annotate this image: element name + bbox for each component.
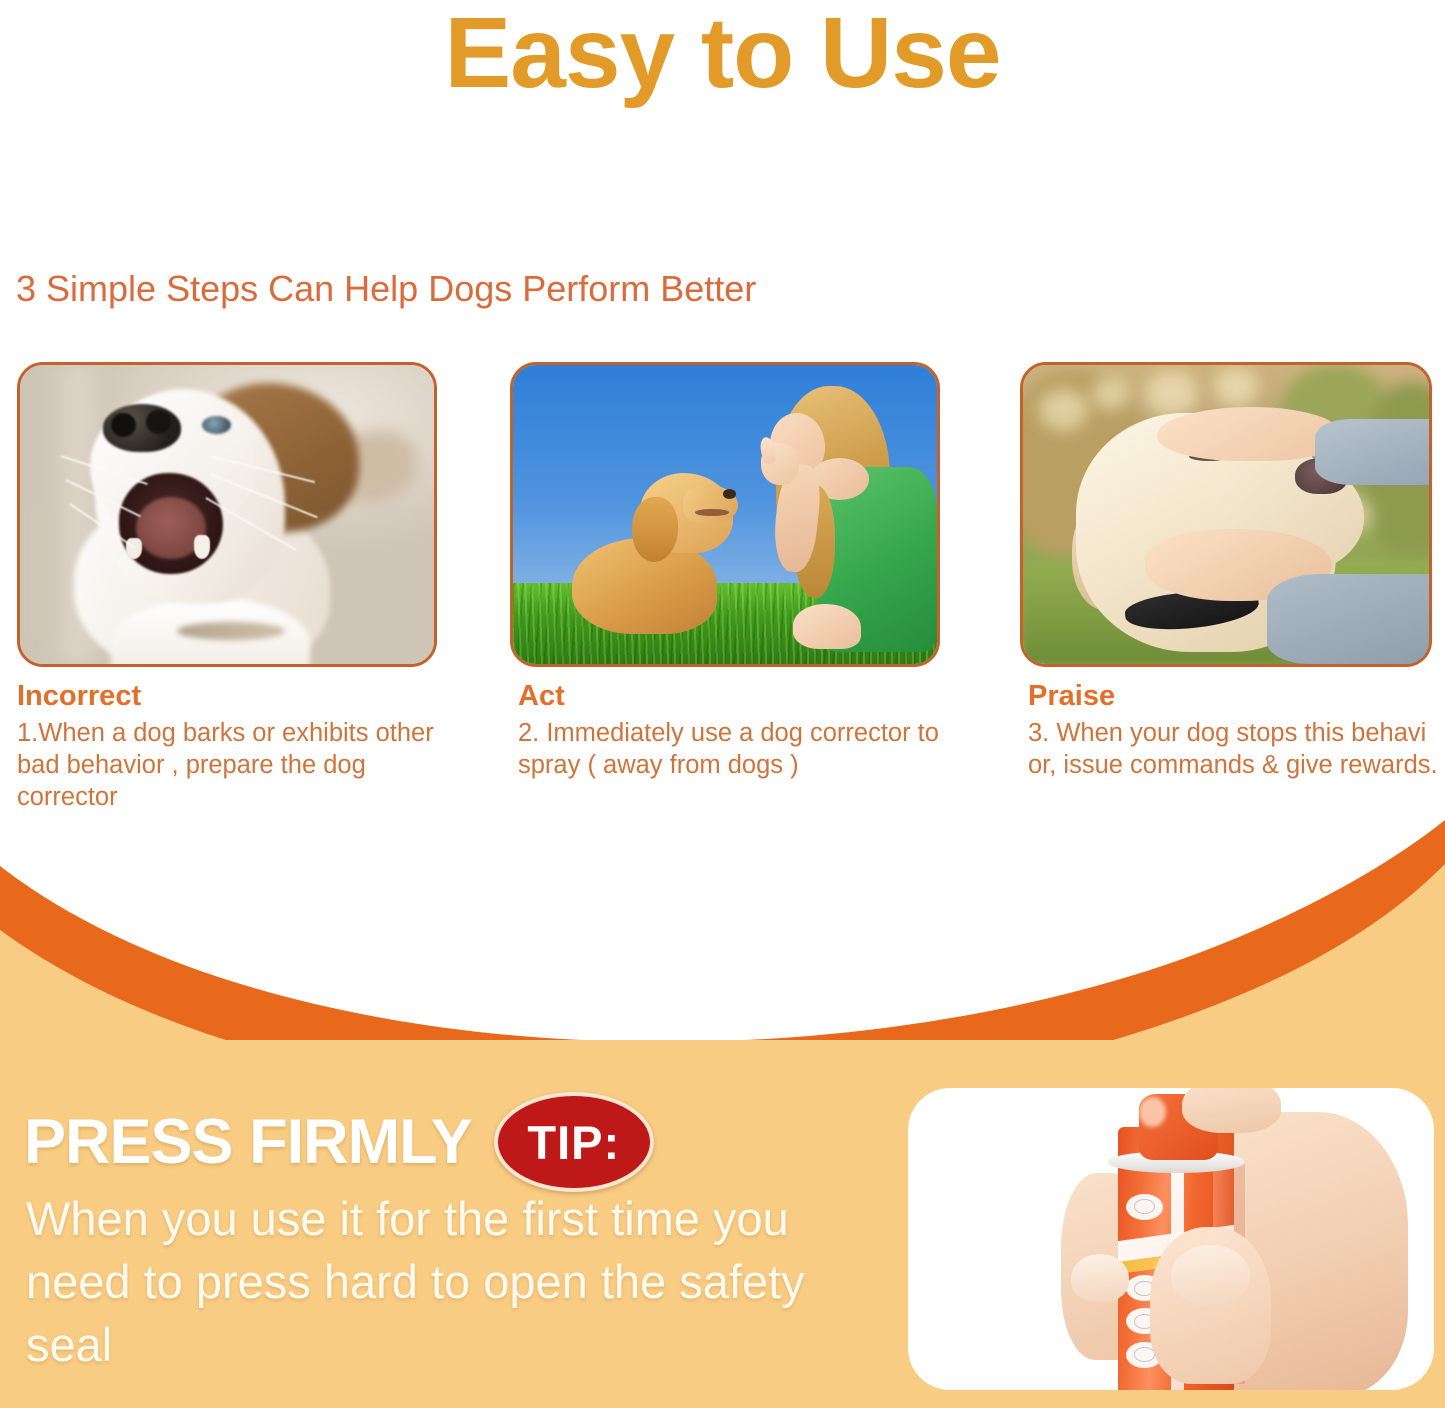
step-photo-praise	[1020, 362, 1432, 667]
paw-badge-icon	[1126, 1194, 1163, 1220]
spray-can-photo	[908, 1088, 1434, 1390]
step-photo-act	[510, 362, 940, 667]
step-body: 1.When a dog barks or exhibits other bad…	[17, 717, 437, 813]
step-body: 2. Immediately use a dog corrector to sp…	[518, 717, 963, 781]
step-heading: Act	[518, 681, 940, 713]
tip-body-text: When you use it for the first time you n…	[26, 1188, 846, 1377]
page-subtitle: 3 Simple Steps Can Help Dogs Perform Bet…	[16, 268, 756, 310]
press-firmly-row: PRESS FIRMLY TIP:	[24, 1092, 654, 1192]
step-card-praise: Praise 3. When your dog stops this behav…	[1020, 362, 1432, 781]
page-title: Easy to Use	[0, 0, 1445, 111]
step-photo-incorrect	[17, 362, 437, 667]
product-photo-card	[908, 1088, 1434, 1390]
infographic-page: Easy to Use 3 Simple Steps Can Help Dogs…	[0, 0, 1445, 1408]
press-firmly-title: PRESS FIRMLY	[24, 1111, 472, 1174]
step-body: 3. When your dog stops this behavi or, i…	[1028, 717, 1445, 781]
step-card-incorrect: Incorrect 1.When a dog barks or exhibits…	[17, 362, 437, 813]
tip-badge: TIP:	[494, 1092, 654, 1192]
steps-container: Incorrect 1.When a dog barks or exhibits…	[0, 362, 1445, 822]
step-heading: Incorrect	[17, 681, 437, 713]
step-card-act: Act 2. Immediately use a dog corrector t…	[510, 362, 940, 781]
tip-badge-label: TIP:	[527, 1119, 620, 1166]
step-heading: Praise	[1028, 681, 1432, 713]
